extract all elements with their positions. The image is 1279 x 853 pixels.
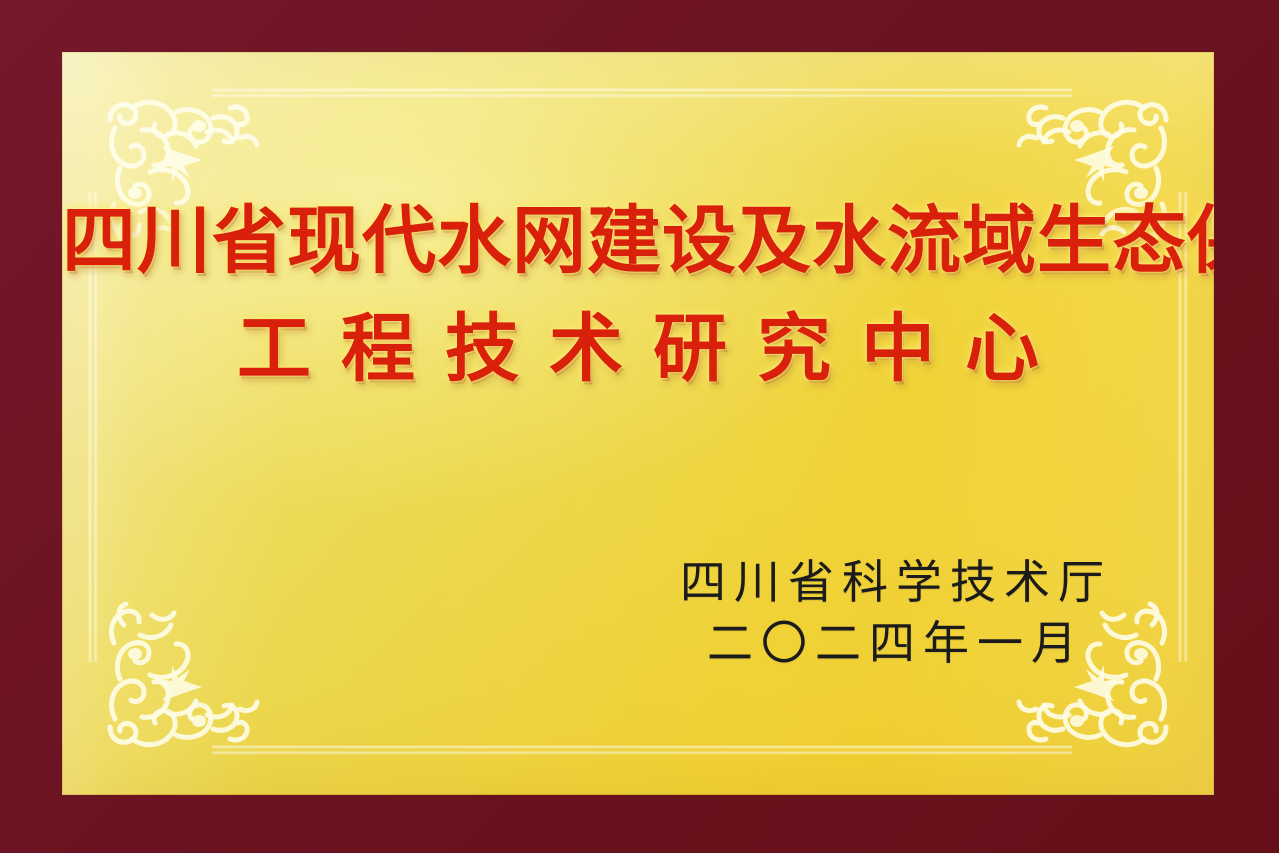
plaque-title-line-1: 四川省现代水网建设及水流域生态保护 bbox=[62, 202, 1214, 282]
frame-rule-bottom bbox=[212, 745, 1072, 755]
panel-sheen-horizontal bbox=[62, 52, 1214, 795]
plaque-title-line-2: 工程技术研究中心 bbox=[62, 310, 1214, 390]
gold-panel: 四川省现代水网建设及水流域生态保护 工程技术研究中心 四川省科学技术厅 二〇二四… bbox=[62, 52, 1214, 795]
issuing-authority: 四川省科学技术厅 bbox=[662, 552, 1122, 613]
corner-filigree-icon-bottom-left bbox=[80, 600, 270, 775]
frame-rule-top bbox=[212, 88, 1072, 98]
award-plaque: 四川省现代水网建设及水流域生态保护 工程技术研究中心 四川省科学技术厅 二〇二四… bbox=[0, 0, 1279, 853]
issue-date: 二〇二四年一月 bbox=[662, 613, 1122, 674]
plaque-title-block: 四川省现代水网建设及水流域生态保护 工程技术研究中心 bbox=[62, 202, 1214, 390]
plaque-signature-block: 四川省科学技术厅 二〇二四年一月 bbox=[662, 552, 1122, 673]
panel-sheen-vertical bbox=[62, 52, 1214, 795]
